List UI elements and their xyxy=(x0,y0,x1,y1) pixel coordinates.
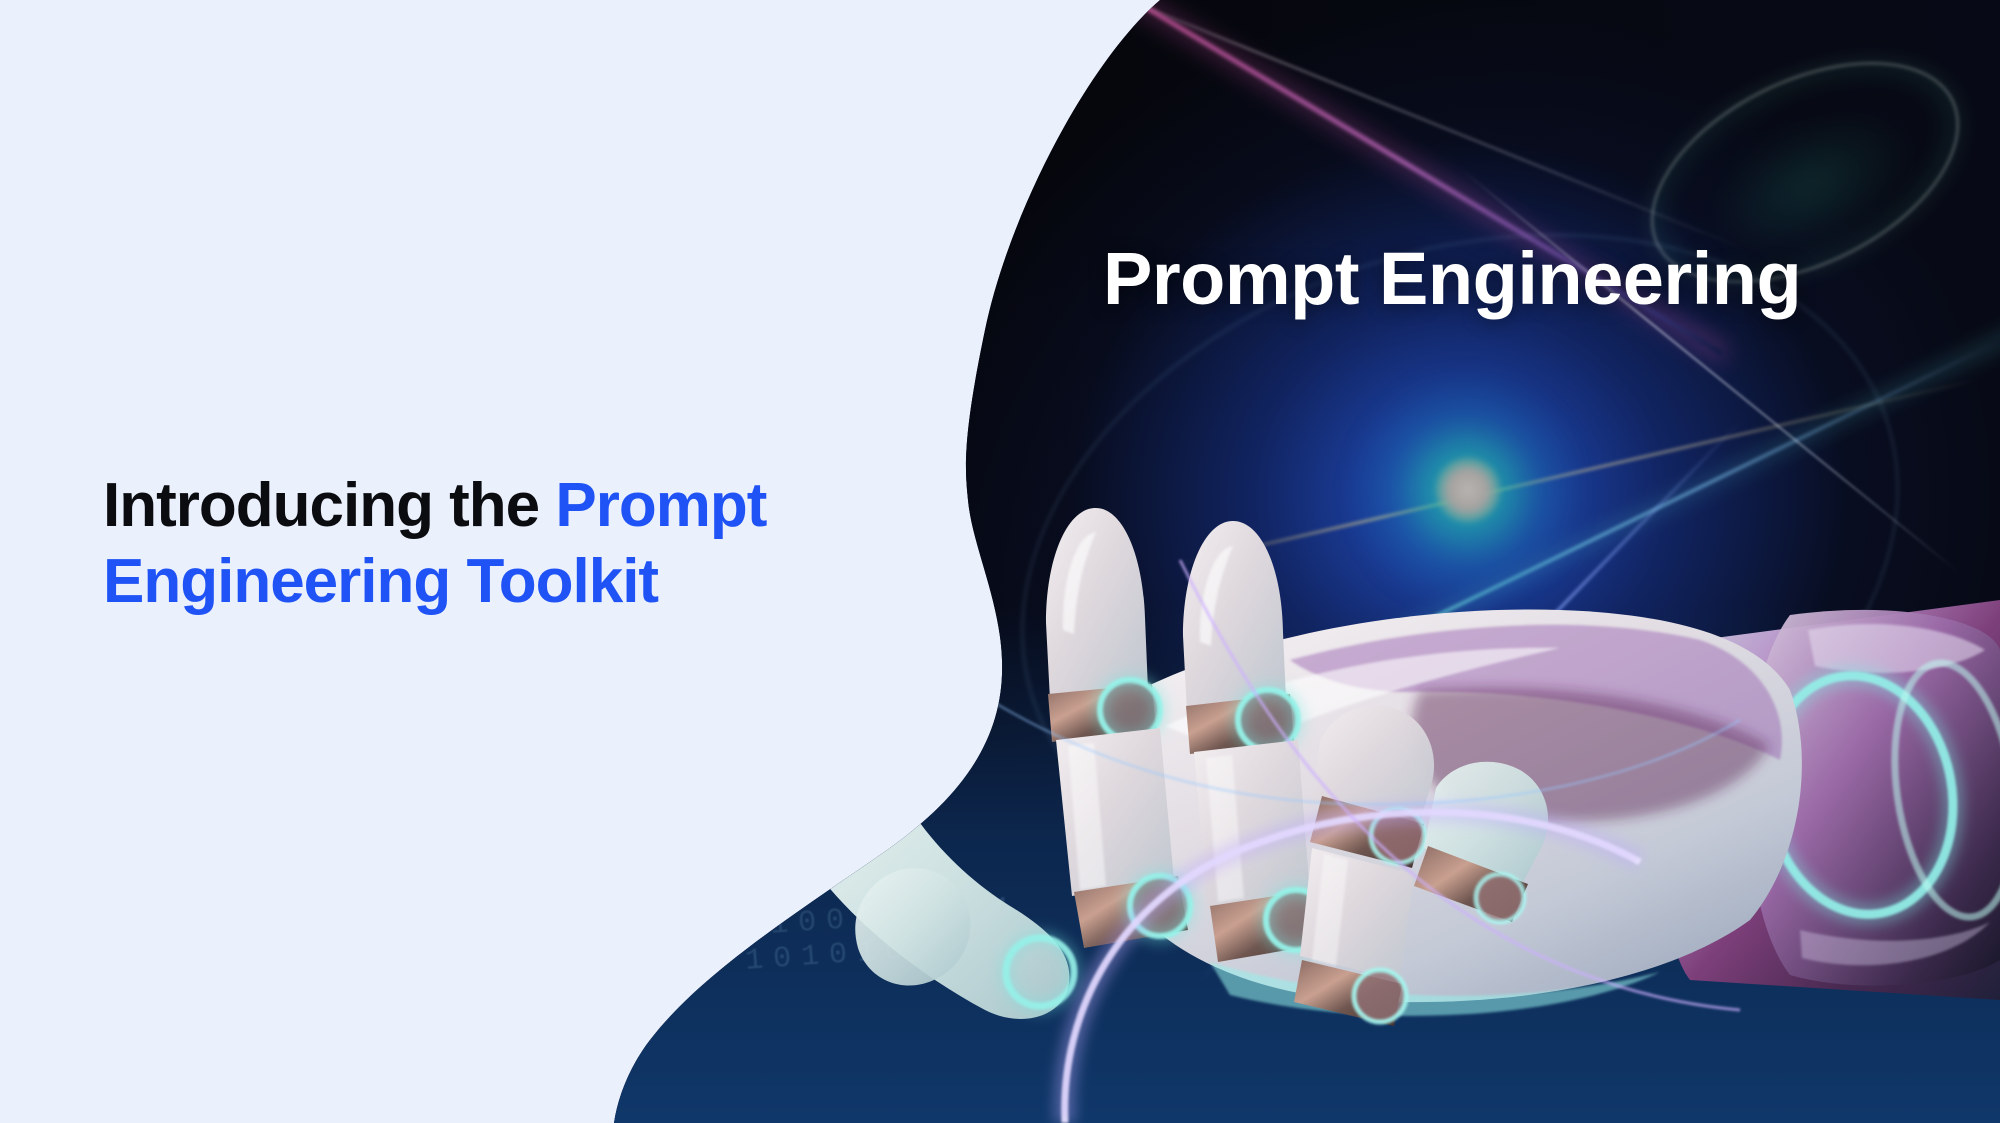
left-content-block: Introducing the Prompt Engineering Toolk… xyxy=(103,468,803,619)
slide-canvas: 100110 11 1010100 10 xyxy=(0,0,2000,1123)
hero-title: Prompt Engineering xyxy=(1103,240,1923,318)
page-title: Introducing the Prompt Engineering Toolk… xyxy=(103,468,803,619)
headline-lead-text: Introducing the xyxy=(103,471,555,540)
